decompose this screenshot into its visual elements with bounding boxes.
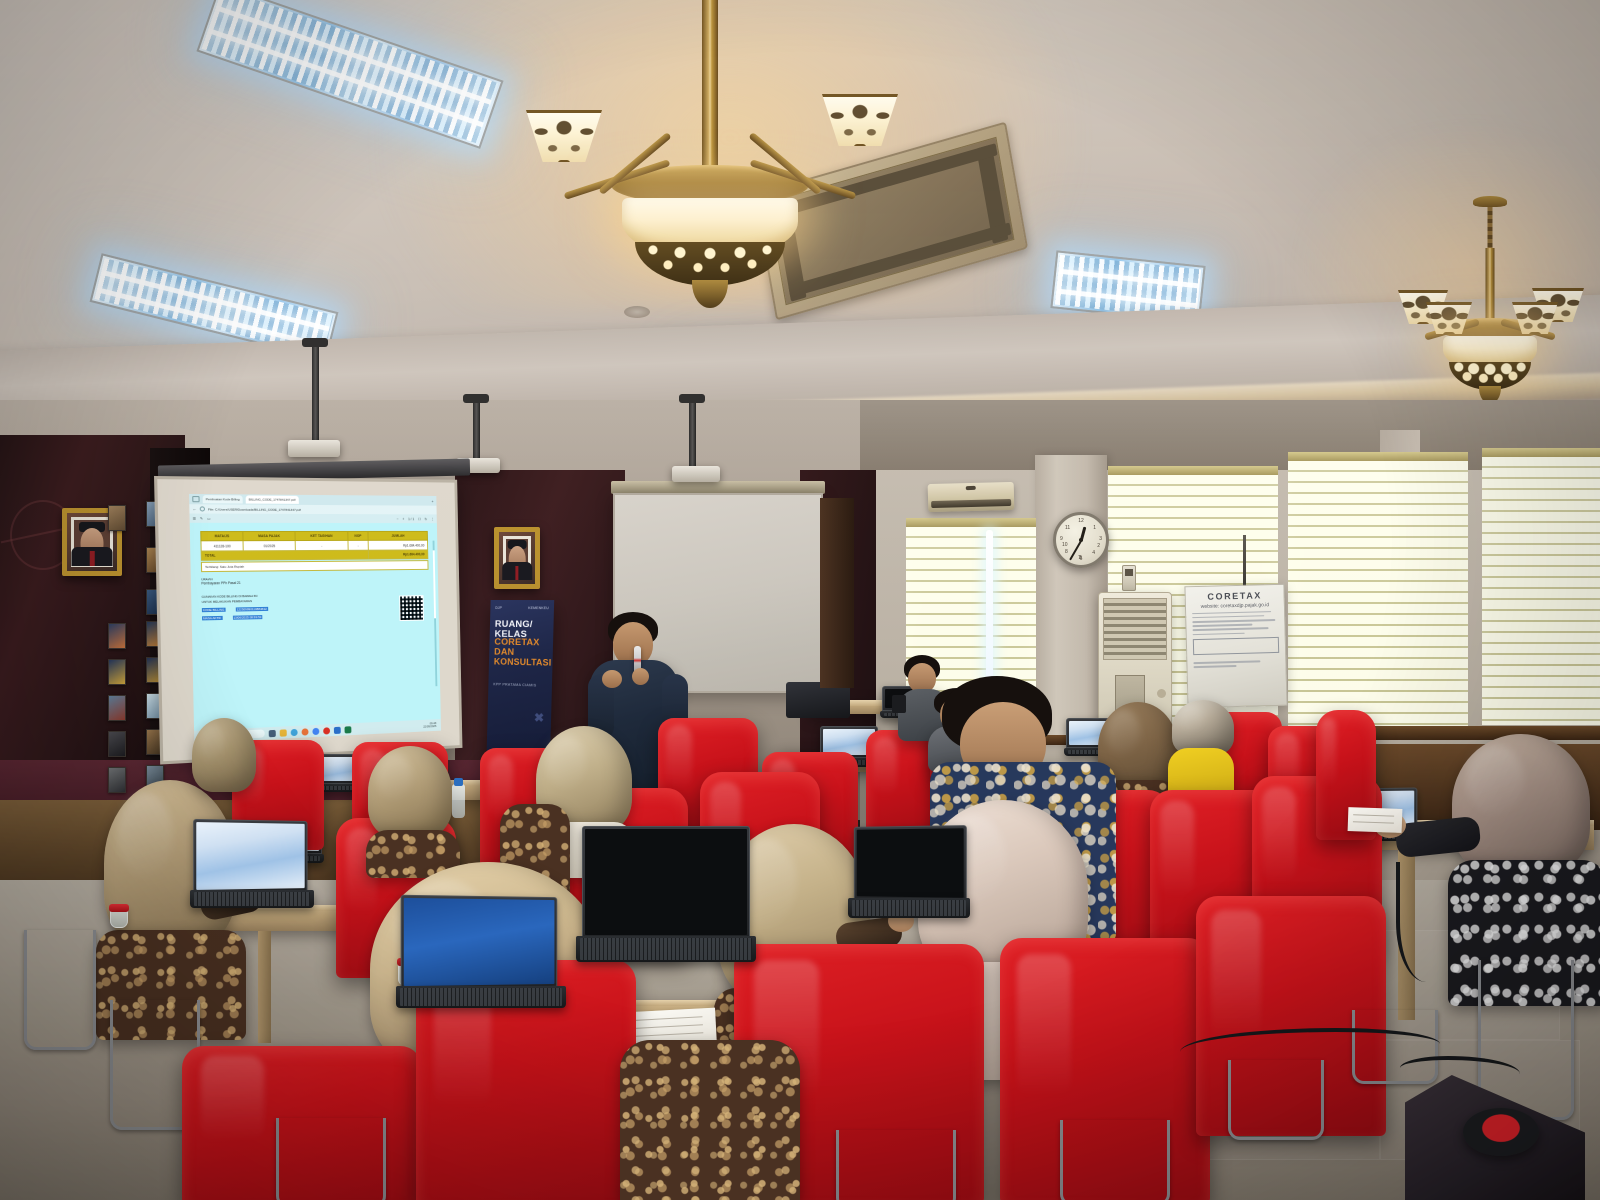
zoom-in-icon[interactable]: + <box>402 517 404 521</box>
address-text: File: C:/Users/USER/Downloads/BILLING_CO… <box>208 507 301 512</box>
flipchart-subtitle: website: coretaxdjp.pajak.go.id <box>1192 602 1278 610</box>
masa-aktif-label: MASA AKTIF <box>202 616 222 621</box>
projector-pole <box>689 398 696 468</box>
chrome-icon[interactable] <box>312 727 319 734</box>
billing-table: MATA/JS MASA PAJAK KET TAGIHAN NOP JUMLA… <box>200 531 428 561</box>
laptop[interactable] <box>396 896 566 1014</box>
wood-column <box>820 498 854 688</box>
window-valance <box>1108 466 1278 475</box>
window-blinds-far-right <box>1482 457 1600 725</box>
participant-batik-foreground <box>620 1040 800 1200</box>
rotate-icon[interactable]: ↻ <box>424 517 427 521</box>
chair-base <box>836 1130 956 1200</box>
flipchart-whiteboard: CORETAX website: coretaxdjp.pajak.go.id <box>1184 584 1287 709</box>
projector-pole <box>473 398 480 460</box>
flipchart-stand <box>1243 535 1246 590</box>
banner-line-5: KONSULTASI <box>494 657 548 667</box>
fit-page-icon[interactable]: ☐ <box>418 517 421 521</box>
browser-tab-strip[interactable]: Pembuatan Kode Billing BILLING_CODE_1747… <box>189 494 436 506</box>
participant-yellow-shirt <box>1168 700 1236 800</box>
projected-browser-window: Pembuatan Kode Billing BILLING_CODE_1747… <box>189 494 441 743</box>
table-cell: 01/2025 <box>243 541 295 551</box>
participant-right-laptop-user <box>1452 734 1600 984</box>
table-cell: - <box>295 541 348 551</box>
cable-reel[interactable] <box>1463 1108 1539 1156</box>
window-valance <box>906 518 1036 527</box>
table-header-cell: NOP <box>348 531 369 540</box>
flipchart-title: CORETAX <box>1192 590 1278 602</box>
laptop[interactable] <box>848 826 970 924</box>
smoke-detector-icon <box>624 306 650 318</box>
chair-base <box>1060 1120 1170 1200</box>
water-bottle[interactable] <box>452 784 465 818</box>
ac-remote-holder-icon[interactable] <box>1122 565 1136 591</box>
presidential-portrait <box>494 527 540 589</box>
table-header-cell: KET TAGIHAN <box>295 531 348 540</box>
banner-logo-row: DJP KEMENKEU <box>495 606 549 610</box>
edge-icon[interactable] <box>291 728 298 735</box>
laptop[interactable] <box>576 826 756 968</box>
zoom-out-icon[interactable]: − <box>397 517 399 521</box>
excel-icon[interactable] <box>345 726 352 733</box>
banner-logo-djp: DJP <box>495 606 502 610</box>
desk-leg <box>258 931 271 1043</box>
word-icon[interactable] <box>334 726 341 733</box>
browser-tab[interactable]: Pembuatan Kode Billing <box>203 495 243 503</box>
chair-base <box>276 1118 386 1200</box>
pdf-icon[interactable] <box>323 727 330 734</box>
smartphone-icon[interactable] <box>892 695 906 713</box>
taskbar-date: 22/05/2025 <box>423 725 436 729</box>
table-header-cell: MASA PAJAK <box>243 531 295 541</box>
chair-base <box>1228 1060 1324 1140</box>
banner-footer: KPP PRATAMA CIAMIS <box>493 682 547 687</box>
folder-icon[interactable] <box>280 729 287 736</box>
page-indicator: 1 / 1 <box>408 517 414 521</box>
projector-mount <box>302 338 328 347</box>
reload-icon[interactable] <box>200 506 205 511</box>
explorer-icon[interactable] <box>269 729 276 736</box>
sidebar-toggle-icon[interactable]: ☰ <box>193 516 196 520</box>
window-blinds-right <box>1288 461 1468 726</box>
drink-cup[interactable] <box>110 906 128 928</box>
terbilang-note: Terbilang: Satu Juta Rupiah <box>201 560 429 572</box>
table-cell: - <box>348 541 369 550</box>
more-menu-icon[interactable]: ⋮ <box>431 517 434 521</box>
chair-base <box>24 930 96 1050</box>
kode-billing-label: KODE BILLING <box>202 608 226 613</box>
table-cell-amount: Rp1.684.400,00 <box>368 541 427 550</box>
table-header-cell: JUMLAH <box>368 531 427 540</box>
highlight-icon[interactable]: ▭ <box>207 516 210 520</box>
floor-cable <box>1396 862 1456 982</box>
ceiling-projector <box>672 466 720 482</box>
pdf-page-content: MATA/JS MASA PAJAK KET TAGIHAN NOP JUMLA… <box>190 523 441 733</box>
billing-code-row: KODE BILLING 122509990110884632 <box>202 604 429 612</box>
presenter-hand-left <box>602 670 622 688</box>
wall-clock: 12 3 6 9 1 2 4 5 7 8 10 11 <box>1053 512 1109 568</box>
tab-add-icon[interactable]: + <box>431 498 433 503</box>
browser-tab-active[interactable]: BILLING_CODE_1747841347.pdf <box>246 495 299 503</box>
chandelier-shade-icon <box>526 110 602 162</box>
qr-code-icon <box>399 595 424 621</box>
chandelier-shade-icon <box>822 94 898 146</box>
paper-handout <box>1348 807 1403 833</box>
table-total-row: TOTAL Rp1.684.400,00 <box>201 550 428 561</box>
projector-mount <box>463 394 489 403</box>
total-value: Rp1.684.400,00 <box>369 550 428 560</box>
pdf-viewer-toolbar[interactable]: ☰ ✎ ▭ − + 1 / 1 ☐ ↻ ⋮ <box>189 514 436 524</box>
window-valance <box>1288 452 1468 461</box>
chandelier-main <box>520 0 900 290</box>
back-arrow-icon[interactable]: ← <box>192 506 196 511</box>
participant-partial-left <box>192 718 258 814</box>
kode-billing-value: 122509990110884632 <box>236 607 268 612</box>
table-header-cell: MATA/JS <box>201 532 243 542</box>
masa-aktif-value: 13/06/2025 08:59:59 <box>232 615 262 620</box>
chandelier-right <box>1400 196 1580 426</box>
firefox-icon[interactable] <box>302 728 309 735</box>
total-label: TOTAL <box>201 550 369 560</box>
projector-pole <box>312 342 319 442</box>
split-ac-unit-icon <box>928 482 1015 512</box>
presenter-hand-right <box>632 668 649 685</box>
projector-mount <box>679 394 705 403</box>
table-cell: 411128-100 <box>201 541 243 551</box>
ceiling-projector <box>288 440 340 457</box>
banner-x-motif-icon: ✖ <box>534 711 544 725</box>
window-menu-icon[interactable] <box>192 496 199 502</box>
laptop[interactable] <box>190 820 314 914</box>
masa-aktif-row: MASA AKTIF 13/06/2025 08:59:59 <box>202 612 429 621</box>
draw-icon[interactable]: ✎ <box>200 516 203 520</box>
participant-hijab-second-left <box>368 746 458 866</box>
classroom-scene: 12 3 6 9 1 2 4 5 7 8 10 11 CORETAX websi… <box>0 0 1600 1200</box>
banner-logo-kemenkeu: KEMENKEU <box>528 606 549 610</box>
window-valance <box>1482 448 1600 457</box>
